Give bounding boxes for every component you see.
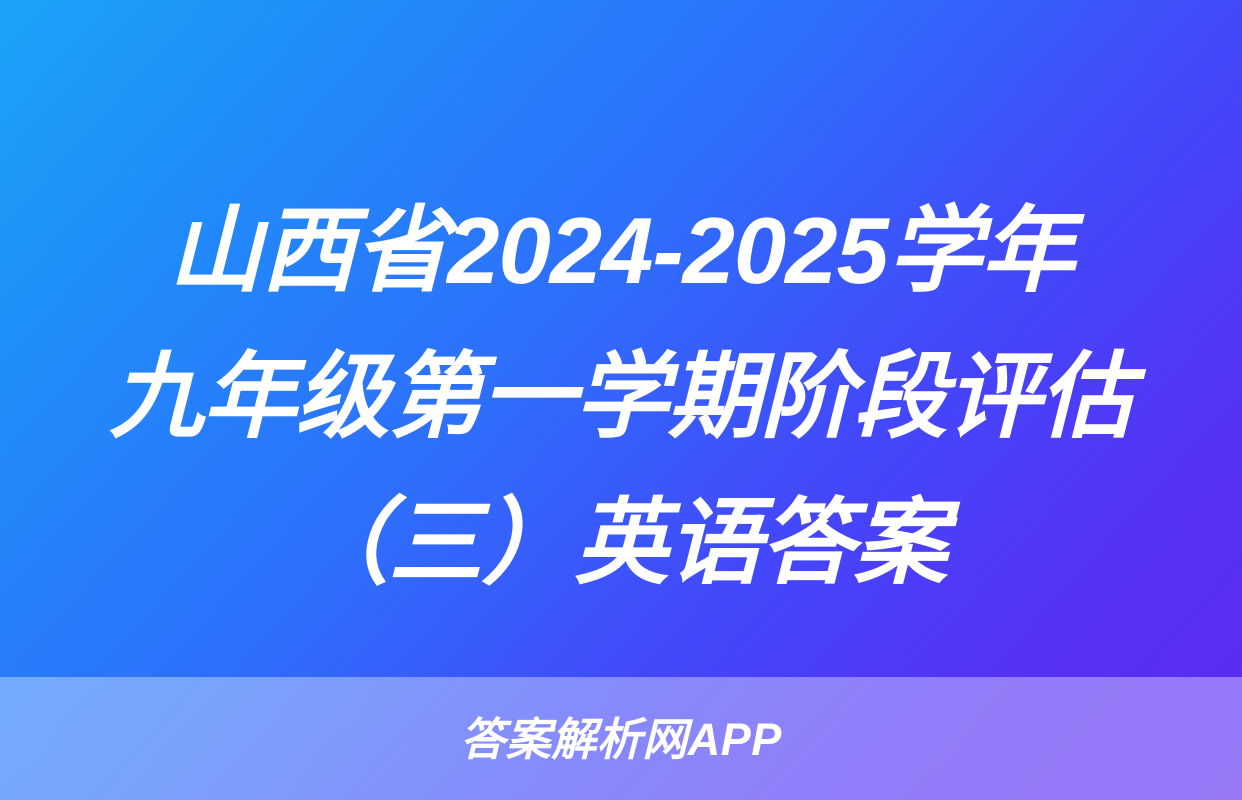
brand-watermark: 答案解析网APP xyxy=(460,717,782,762)
title-line-1: 山西省2024-2025学年 xyxy=(0,178,1242,324)
title-line-2: 九年级第一学期阶段评估 xyxy=(0,324,1242,470)
title-card: 山西省2024-2025学年 九年级第一学期阶段评估 （三）英语答案 答案解析网… xyxy=(0,0,1242,800)
title-line-3: （三）英语答案 xyxy=(0,470,1242,616)
page-title: 山西省2024-2025学年 九年级第一学期阶段评估 （三）英语答案 xyxy=(0,178,1242,616)
footer-watermark-band: 答案解析网APP xyxy=(0,677,1242,800)
